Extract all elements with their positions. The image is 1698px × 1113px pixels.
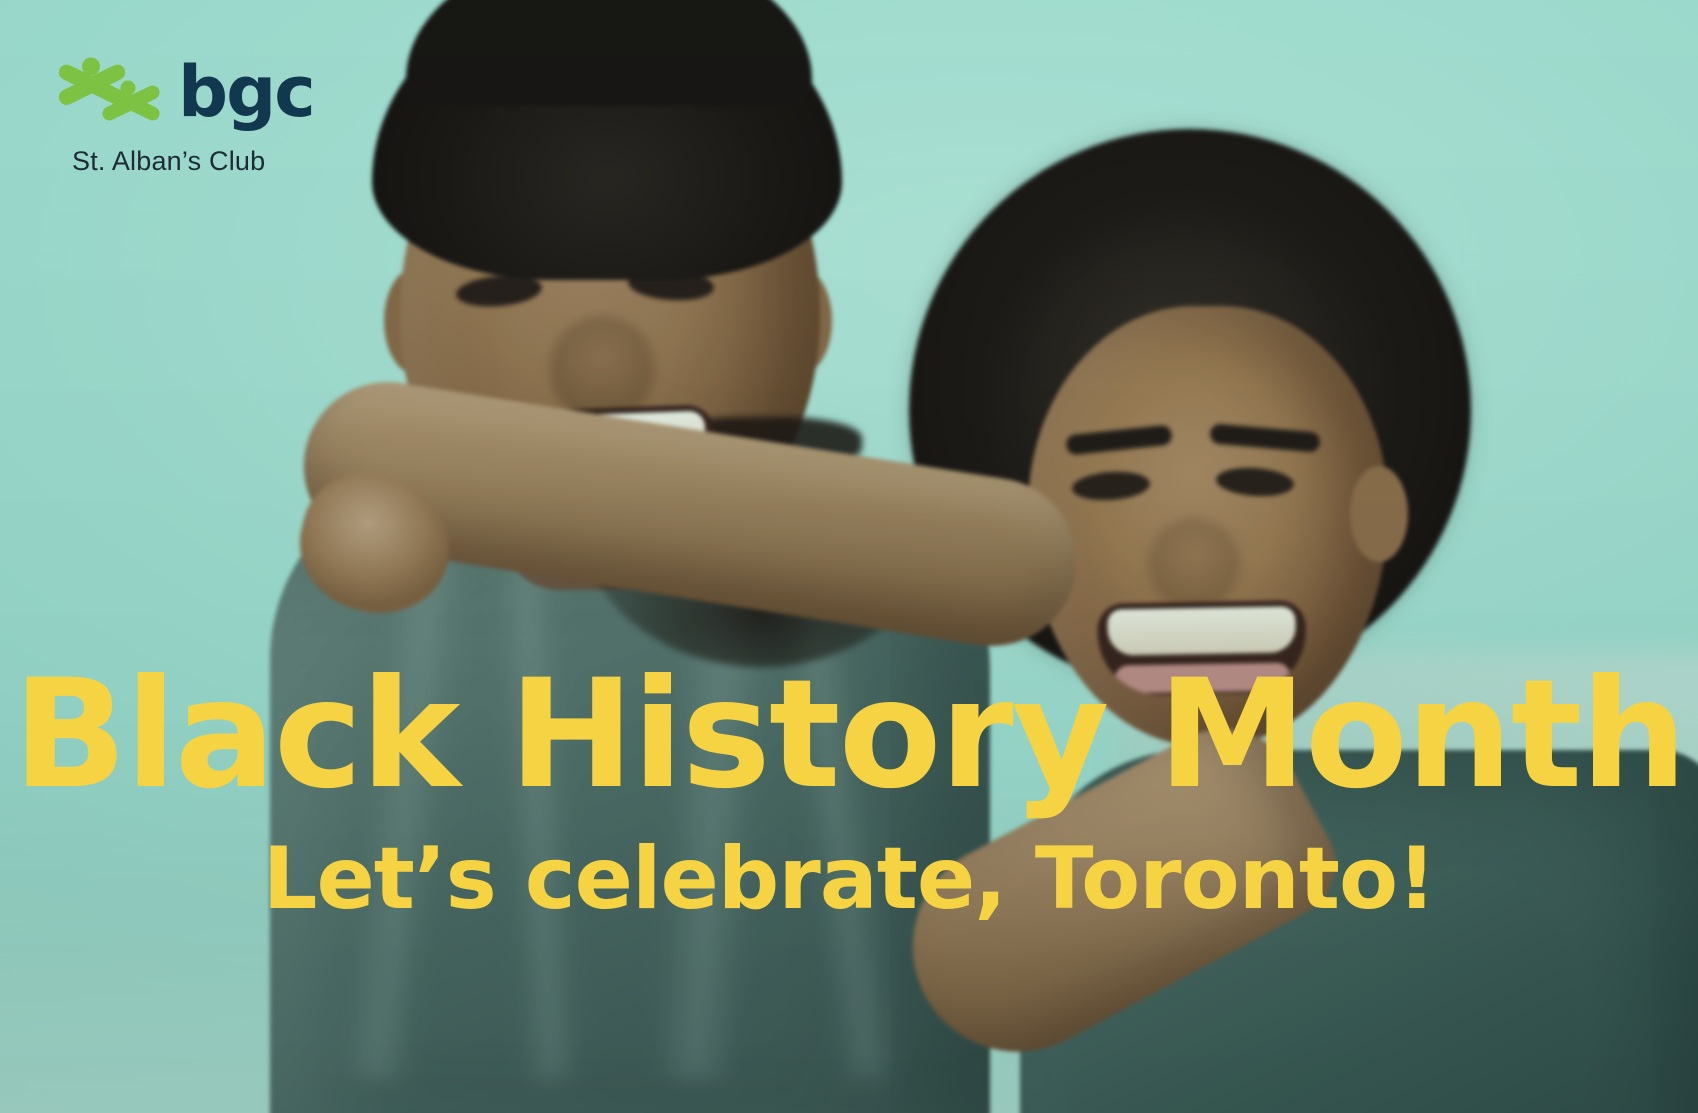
man-nose [550, 316, 654, 420]
message-block: Black History Month Let’s celebrate, Tor… [0, 660, 1698, 922]
boy-ear [1350, 466, 1408, 562]
subheadline: Let’s celebrate, Toronto! [0, 836, 1698, 922]
headline: Black History Month [0, 660, 1698, 810]
bgc-logo: bgc St. Alban’s Club [58, 52, 358, 177]
man-hair [372, 0, 842, 280]
bgc-wordmark: bgc [178, 57, 314, 127]
black-history-month-poster: bgc St. Alban’s Club Black History Month… [0, 0, 1698, 1113]
club-name: St. Alban’s Club [72, 146, 358, 177]
bgc-people-x-mark-icon [58, 56, 162, 128]
boy-nose [1148, 518, 1240, 610]
